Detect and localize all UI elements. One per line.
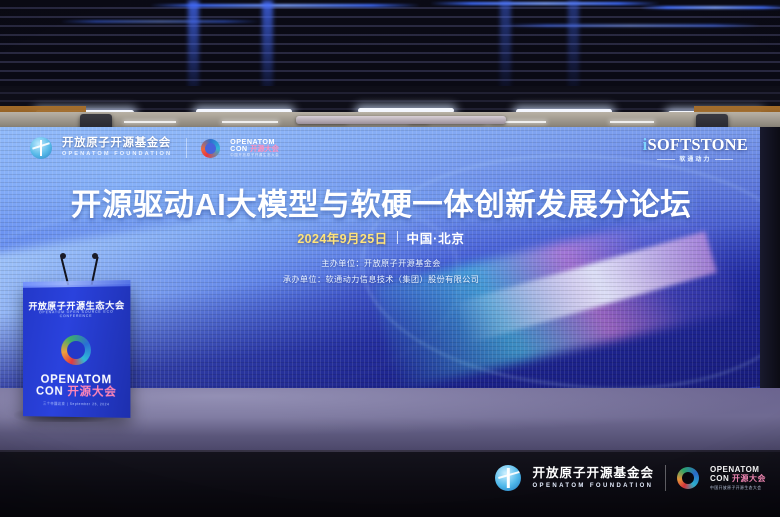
foundation-name-cn: 开放原子开源基金会 (62, 138, 172, 150)
forum-main-title: 开源驱动AI大模型与软硬一体创新发展分论坛 (0, 180, 762, 224)
foundation-name-en: OPENATOM FOUNDATION (62, 152, 172, 158)
microphone-left-head (60, 253, 66, 259)
bottom-con-line2-en: CON (710, 474, 729, 483)
conference-stage-photo: 开放原子开源基金会 OPENATOM FOUNDATION OPENATOM C… (0, 0, 780, 517)
ceiling-slats (0, 0, 780, 92)
isoftstone-name-cn: 软通动力 (679, 157, 711, 163)
bottom-con-line3: 中国开放原子开源生态大会 (710, 486, 766, 490)
event-location: 中国·北京 (407, 228, 465, 247)
date-location-separator (397, 231, 398, 244)
podium-title-en: OPENATOM OPEN SOURCE ECO CONFERENCE (23, 309, 130, 318)
con-logo-line3: 中国开放原子开源生态大会 (230, 154, 279, 158)
microphone-right-head (92, 253, 98, 259)
openatom-con-ring-mark-icon (201, 139, 220, 158)
screen-header-logos: 开放原子开源基金会 OPENATOM FOUNDATION OPENATOM C… (30, 137, 279, 159)
bottom-foundation-en: OPENATOM FOUNDATION (532, 483, 654, 489)
projector-bar (296, 116, 506, 124)
bottom-con-line2-cn: 开源大会 (732, 474, 766, 483)
bottom-band-logos: 开放原子开源基金会 OPENATOM FOUNDATION OPENATOM C… (495, 465, 766, 491)
bottom-con-ring-mark-icon (677, 467, 699, 489)
bottom-logo-divider (665, 465, 666, 491)
speaker-podium: 开放原子开源生态大会 OPENATOM OPEN SOURCE ECO CONF… (23, 284, 130, 418)
bottom-foundation-cn: 开放原子开源基金会 (532, 467, 654, 480)
con-logo-line2-cn: 开源大会 (250, 144, 279, 153)
podium-con-ring-mark-icon (61, 335, 91, 365)
openatom-foundation-mark-icon (30, 137, 52, 159)
date-location-line: 2024年9月25日 中国·北京 (0, 228, 762, 247)
bottom-foundation-mark-icon (495, 465, 521, 491)
screen-right-edge (760, 127, 780, 395)
con-logo-line2-en: CON (230, 144, 247, 153)
event-date: 2024年9月25日 (297, 228, 387, 247)
podium-logo-line2-cn: 开源大会 (67, 386, 116, 399)
logo-divider (186, 138, 187, 158)
organizer-line: 主办单位：开放原子开源基金会 (0, 257, 762, 269)
podium-logo-line2-en: CON (36, 386, 63, 398)
podium-logo-date: 三个中国北京 | September 25, 2024 (23, 400, 130, 406)
isoftstone-logo: iSOFTSTONE 软通动力 (643, 137, 748, 163)
isoftstone-name-rest: SOFTSTONE (647, 135, 748, 154)
